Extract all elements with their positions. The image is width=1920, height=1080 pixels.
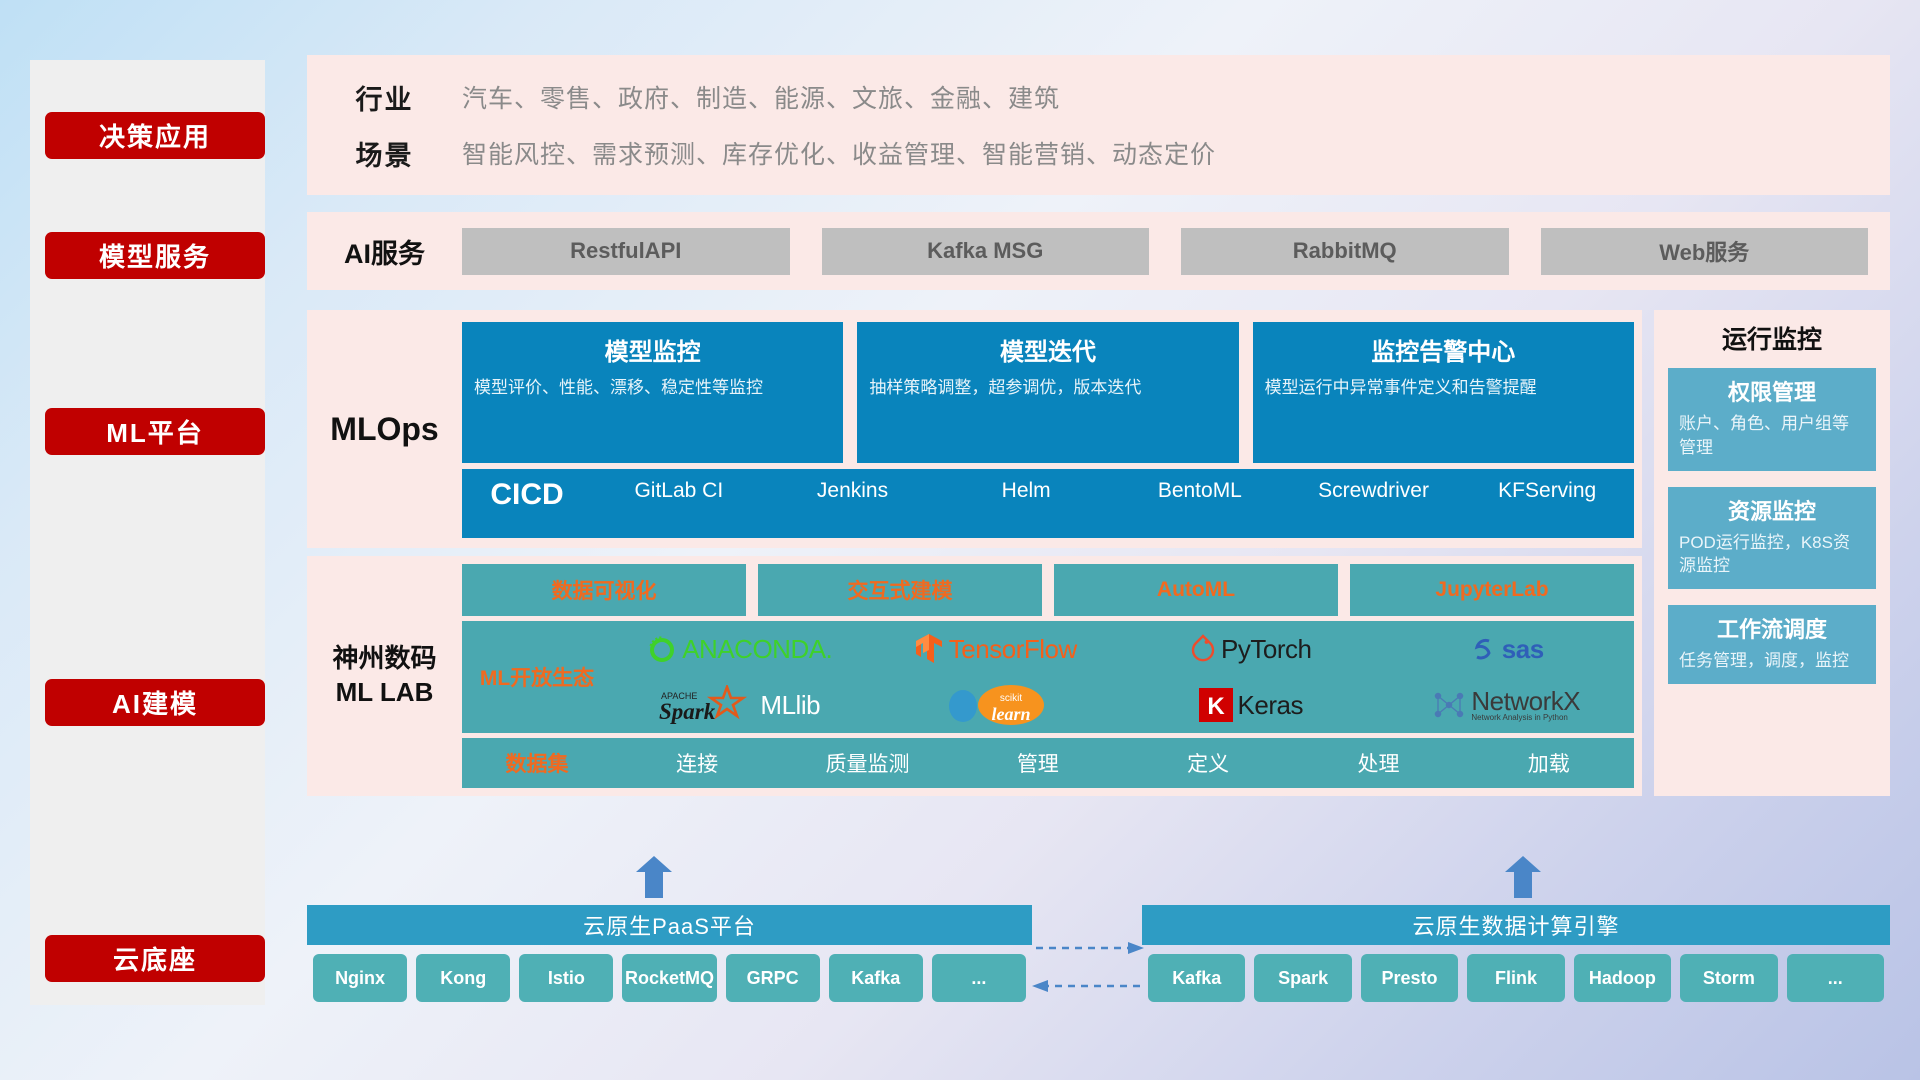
industry-row: 行业 汽车、零售、政府、制造、能源、文旅、金融、建筑 — [307, 69, 1890, 125]
pytorch-mark-icon — [1190, 634, 1216, 664]
mlops-band: MLOps 模型监控 模型评价、性能、漂移、稳定性等监控 模型迭代 抽样策略调整… — [307, 310, 1642, 548]
svg-text:K: K — [1207, 693, 1225, 720]
up-arrow-icon-data-engine — [1503, 856, 1543, 898]
mlops-card-title: 监控告警中心 — [1265, 332, 1622, 367]
monitor-card-desc: 任务管理，调度，监控 — [1679, 649, 1865, 673]
ai-service-band: AI服务 RestfulAPI Kafka MSG RabbitMQ Web服务 — [307, 212, 1890, 290]
cicd-bar: CICD GitLab CI Jenkins Helm BentoML Scre… — [462, 469, 1634, 538]
data-chip-kafka[interactable]: Kafka — [1148, 954, 1245, 1002]
industry-value-text: 汽车、零售、政府、制造、能源、文旅、金融、建筑 — [462, 79, 1060, 115]
svg-text:scikit: scikit — [1000, 693, 1022, 704]
cloud-data-engine-chip-list: Kafka Spark Presto Flink Hadoop Storm ..… — [1142, 945, 1890, 1008]
cicd-item-list: GitLab CI Jenkins Helm BentoML Screwdriv… — [592, 478, 1634, 504]
mlops-card-model-iteration[interactable]: 模型迭代 抽样策略调整，超参调优，版本迭代 — [857, 322, 1238, 463]
ai-service-chip-restfulapi[interactable]: RestfulAPI — [462, 228, 790, 275]
ecosystem-logo-grid: ANACONDA. TensorFlow PyTorch — [612, 621, 1634, 733]
mlops-card-alert-center[interactable]: 监控告警中心 模型运行中异常事件定义和告警提醒 — [1253, 322, 1634, 463]
keras-mark-icon: K — [1199, 688, 1233, 722]
dataset-item-loading[interactable]: 加载 — [1464, 748, 1634, 778]
sas-mark-icon — [1469, 635, 1497, 663]
rail-item-ml-platform[interactable]: ML平台 — [45, 408, 265, 455]
scenario-row: 场景 智能风控、需求预测、库存优化、收益管理、智能营销、动态定价 — [307, 125, 1890, 181]
monitor-card-title: 资源监控 — [1679, 494, 1865, 526]
ml-lab-label-line1: 神州数码 — [332, 642, 436, 676]
pytorch-wordmark: PyTorch — [1221, 634, 1311, 665]
sas-wordmark: sas — [1502, 634, 1544, 665]
data-chip-storm[interactable]: Storm — [1680, 954, 1777, 1002]
cloud-chip-grpc[interactable]: GRPC — [726, 954, 820, 1002]
ai-service-chip-list: RestfulAPI Kafka MSG RabbitMQ Web服务 — [462, 228, 1890, 275]
networkx-mark-icon — [1432, 688, 1466, 722]
sas-logo: sas — [1379, 634, 1635, 665]
ml-lab-tool-list: 数据可视化 交互式建模 AutoML JupyterLab — [462, 564, 1634, 616]
monitor-card-title: 工作流调度 — [1679, 612, 1865, 644]
tool-chip-data-visualization[interactable]: 数据可视化 — [462, 564, 746, 616]
dataset-item-definition[interactable]: 定义 — [1123, 748, 1293, 778]
ml-open-ecosystem-label: ML开放生态 — [462, 621, 612, 733]
mlops-label: MLOps — [307, 310, 462, 548]
cloud-native-paas-box: 云原生PaaS平台 Nginx Kong Istio RocketMQ GRPC… — [307, 905, 1032, 1008]
networkx-wordmark: NetworkX — [1471, 688, 1580, 714]
ai-service-chip-web-service[interactable]: Web服务 — [1541, 228, 1869, 275]
anaconda-wordmark: ANACONDA. — [682, 634, 832, 665]
data-chip-more[interactable]: ... — [1787, 954, 1884, 1002]
mlops-card-desc: 模型评价、性能、漂移、稳定性等监控 — [474, 376, 831, 401]
dataset-label: 数据集 — [462, 748, 612, 778]
mlops-card-list: 模型监控 模型评价、性能、漂移、稳定性等监控 模型迭代 抽样策略调整，超参调优，… — [462, 322, 1634, 463]
runtime-monitor-panel: 运行监控 权限管理 账户、角色、用户组等管理 资源监控 POD运行监控，K8S资… — [1654, 310, 1890, 796]
ml-lab-band: 神州数码 ML LAB 数据可视化 交互式建模 AutoML JupyterLa… — [307, 556, 1642, 796]
rail-item-label: 模型服务 — [99, 237, 211, 274]
ai-service-chip-kafka-msg[interactable]: Kafka MSG — [822, 228, 1150, 275]
rail-item-decision-app[interactable]: 决策应用 — [45, 112, 265, 159]
cloud-chip-nginx[interactable]: Nginx — [313, 954, 407, 1002]
svg-text:learn: learn — [991, 704, 1030, 724]
cloud-chip-kafka[interactable]: Kafka — [829, 954, 923, 1002]
cloud-chip-kong[interactable]: Kong — [416, 954, 510, 1002]
cicd-item-gitlab-ci[interactable]: GitLab CI — [592, 478, 766, 504]
monitor-card-workflow-scheduling[interactable]: 工作流调度 任务管理，调度，监控 — [1668, 605, 1876, 684]
ml-lab-label-line2: ML LAB — [332, 676, 436, 710]
data-chip-spark[interactable]: Spark — [1254, 954, 1351, 1002]
industry-key-label: 行业 — [307, 78, 462, 117]
cicd-item-bentoml[interactable]: BentoML — [1113, 478, 1287, 504]
rail-item-label: ML平台 — [106, 413, 204, 450]
rail-item-model-service[interactable]: 模型服务 — [45, 232, 265, 279]
cloud-data-engine-title: 云原生数据计算引擎 — [1142, 905, 1890, 945]
keras-wordmark: Keras — [1238, 690, 1303, 721]
networkx-logo: NetworkX Network Analysis in Python — [1379, 688, 1635, 722]
bidirectional-dashed-link-icon — [1032, 936, 1144, 998]
mlops-card-title: 模型监控 — [474, 332, 831, 367]
rail-item-label: 云底座 — [113, 940, 197, 977]
dataset-item-processing[interactable]: 处理 — [1293, 748, 1463, 778]
cloud-paas-title: 云原生PaaS平台 — [307, 905, 1032, 945]
tensorflow-mark-icon — [914, 633, 944, 665]
keras-logo: K Keras — [1123, 688, 1379, 722]
ml-lab-content: 数据可视化 交互式建模 AutoML JupyterLab ML开放生态 ANA… — [462, 556, 1642, 796]
apache-spark-mark-icon: APACHE Spark — [659, 685, 755, 725]
svg-text:Spark: Spark — [659, 699, 716, 724]
mlops-card-desc: 抽样策略调整，超参调优，版本迭代 — [869, 376, 1226, 401]
dataset-item-management[interactable]: 管理 — [953, 748, 1123, 778]
runtime-monitor-title: 运行监控 — [1668, 320, 1876, 356]
spark-mllib-logo: APACHE Spark MLlib — [612, 685, 868, 725]
cicd-item-helm[interactable]: Helm — [939, 478, 1113, 504]
monitor-card-resource-monitoring[interactable]: 资源监控 POD运行监控，K8S资源监控 — [1668, 487, 1876, 590]
anaconda-mark-icon — [647, 634, 677, 664]
anaconda-logo: ANACONDA. — [612, 634, 868, 665]
industry-scenario-band: 行业 汽车、零售、政府、制造、能源、文旅、金融、建筑 场景 智能风控、需求预测、… — [307, 55, 1890, 195]
cicd-item-screwdriver[interactable]: Screwdriver — [1287, 478, 1461, 504]
data-chip-hadoop[interactable]: Hadoop — [1574, 954, 1671, 1002]
tensorflow-wordmark: TensorFlow — [949, 634, 1077, 665]
data-chip-flink[interactable]: Flink — [1467, 954, 1564, 1002]
ml-lab-label: 神州数码 ML LAB — [307, 556, 462, 796]
rail-item-ai-modeling[interactable]: AI建模 — [45, 679, 265, 726]
monitor-card-title: 权限管理 — [1679, 375, 1865, 407]
cicd-item-jenkins[interactable]: Jenkins — [766, 478, 940, 504]
mlops-card-title: 模型迭代 — [869, 332, 1226, 367]
cicd-item-kfserving[interactable]: KFServing — [1460, 478, 1634, 504]
scikit-learn-logo: scikit learn — [868, 683, 1124, 727]
cloud-paas-chip-list: Nginx Kong Istio RocketMQ GRPC Kafka ... — [307, 945, 1032, 1008]
networkx-tagline: Network Analysis in Python — [1471, 714, 1580, 722]
tool-chip-automl[interactable]: AutoML — [1054, 564, 1338, 616]
mlops-card-desc: 模型运行中异常事件定义和告警提醒 — [1265, 376, 1622, 401]
monitor-card-permission-management[interactable]: 权限管理 账户、角色、用户组等管理 — [1668, 368, 1876, 471]
rail-item-cloud-base[interactable]: 云底座 — [45, 935, 265, 982]
ai-service-chip-rabbitmq[interactable]: RabbitMQ — [1181, 228, 1509, 275]
tool-chip-jupyterlab[interactable]: JupyterLab — [1350, 564, 1634, 616]
dataset-item-connect[interactable]: 连接 — [612, 748, 782, 778]
cloud-chip-rocketmq[interactable]: RocketMQ — [622, 954, 716, 1002]
scenario-value-text: 智能风控、需求预测、库存优化、收益管理、智能营销、动态定价 — [462, 135, 1216, 171]
data-chip-presto[interactable]: Presto — [1361, 954, 1458, 1002]
cloud-chip-more[interactable]: ... — [932, 954, 1026, 1002]
cicd-title: CICD — [462, 478, 592, 512]
cloud-chip-istio[interactable]: Istio — [519, 954, 613, 1002]
mlops-content: 模型监控 模型评价、性能、漂移、稳定性等监控 模型迭代 抽样策略调整，超参调优，… — [462, 310, 1642, 548]
monitor-card-desc: 账户、角色、用户组等管理 — [1679, 412, 1865, 460]
scenario-key-label: 场景 — [307, 134, 462, 173]
ai-service-label: AI服务 — [307, 232, 462, 271]
tool-chip-interactive-modeling[interactable]: 交互式建模 — [758, 564, 1042, 616]
left-rail-panel — [30, 60, 265, 1005]
scikit-learn-mark-icon: scikit learn — [974, 683, 1048, 727]
ml-open-ecosystem-row: ML开放生态 ANACONDA. TensorFlow — [462, 621, 1634, 733]
cloud-native-data-engine-box: 云原生数据计算引擎 Kafka Spark Presto Flink Hadoo… — [1142, 905, 1890, 1008]
dataset-item-list: 连接 质量监测 管理 定义 处理 加载 — [612, 748, 1634, 778]
up-arrow-icon-paas — [634, 856, 674, 898]
mllib-wordmark: MLlib — [760, 690, 820, 721]
rail-item-label: AI建模 — [112, 684, 198, 721]
pytorch-logo: PyTorch — [1123, 634, 1379, 665]
dataset-row: 数据集 连接 质量监测 管理 定义 处理 加载 — [462, 738, 1634, 788]
dataset-item-quality-monitoring[interactable]: 质量监测 — [782, 748, 952, 778]
tensorflow-logo: TensorFlow — [868, 633, 1124, 665]
mlops-card-model-monitoring[interactable]: 模型监控 模型评价、性能、漂移、稳定性等监控 — [462, 322, 843, 463]
rail-item-label: 决策应用 — [99, 117, 211, 154]
monitor-card-desc: POD运行监控，K8S资源监控 — [1679, 531, 1865, 579]
